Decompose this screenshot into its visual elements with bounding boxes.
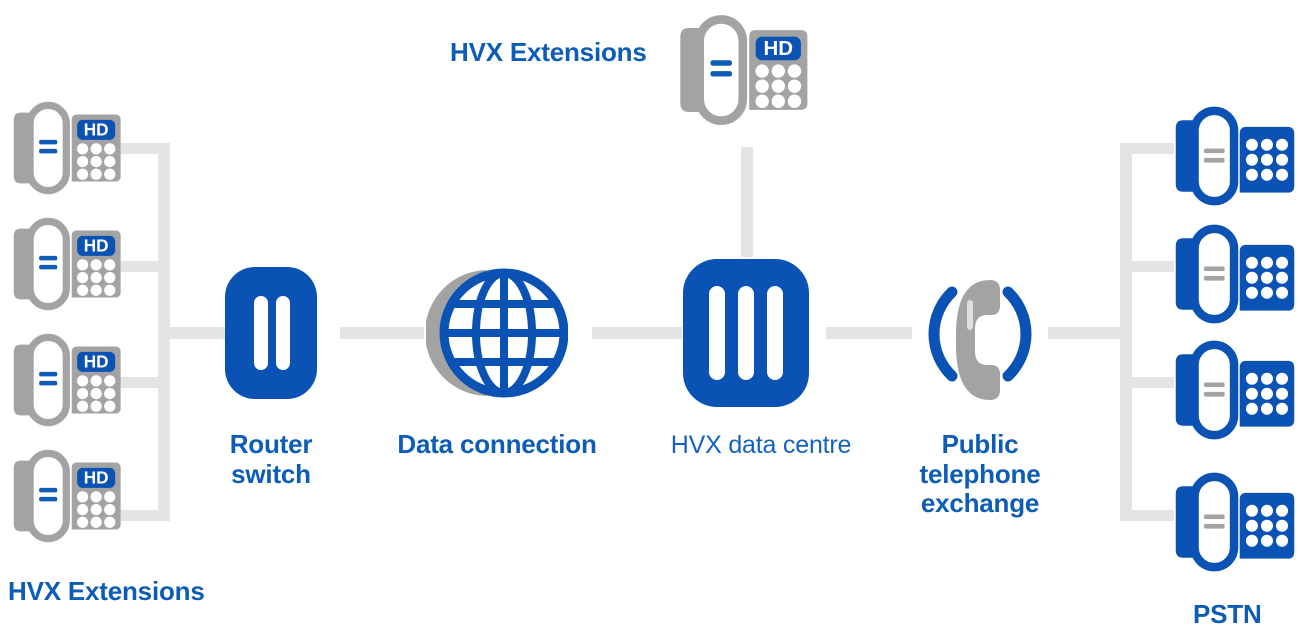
label-hvx-extensions-left: HVX Extensions [8, 577, 205, 607]
hvx-desk-phone-icon-left-4 [10, 448, 128, 544]
connector-datacentre-to-exchange [826, 327, 912, 339]
connector-topphone-to-datacentre [741, 147, 753, 257]
connector-right-stub-2 [1126, 261, 1174, 272]
connector-right-trunk [1120, 143, 1132, 521]
pstn-desk-phone-icon-2 [1172, 222, 1298, 326]
label-pstn: PSTN [1193, 600, 1262, 630]
connector-right-stub-1 [1126, 143, 1174, 154]
connector-right-stub-4 [1126, 510, 1174, 521]
pstn-desk-phone-icon-3 [1172, 338, 1298, 442]
connector-globe-to-datacentre [592, 327, 682, 339]
hvx-desk-phone-icon-top [676, 6, 816, 134]
hvx-desk-phone-icon-left-1 [10, 100, 128, 196]
connector-router-to-globe [340, 327, 424, 339]
telephone-handset-icon [914, 268, 1046, 400]
network-diagram: HD [0, 0, 1300, 636]
label-router-switch: Router switch [191, 430, 351, 489]
pstn-desk-phone-icon-4 [1172, 470, 1298, 574]
label-hvx-data-centre: HVX data centre [646, 431, 876, 460]
pstn-desk-phone-icon-1 [1172, 104, 1298, 208]
label-hvx-extensions-top: HVX Extensions [450, 38, 647, 68]
hvx-desk-phone-icon-left-2 [10, 216, 128, 312]
label-data-connection: Data connection [377, 430, 617, 460]
label-public-telephone-exchange: Public telephone exchange [890, 430, 1070, 519]
connector-right-stub-3 [1126, 377, 1174, 388]
connector-left-to-router [164, 327, 226, 339]
router-switch-icon [224, 266, 318, 400]
data-centre-icon [682, 258, 810, 408]
hvx-desk-phone-icon-left-3 [10, 332, 128, 428]
globe-icon [426, 262, 568, 404]
